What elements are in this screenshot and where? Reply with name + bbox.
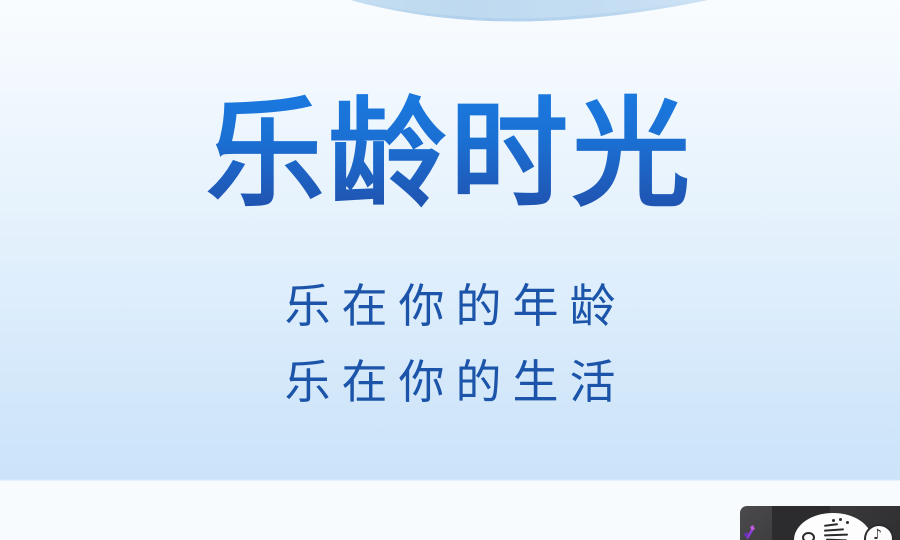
cartoon-dot-1 [832,519,835,522]
cartoon-dot-3 [846,521,849,524]
subtitle-line-1: 乐在你的年龄 [0,268,900,344]
music-note-icon: ♪ [873,528,886,540]
page-title: 乐龄时光 [0,78,900,230]
poster-canvas: 乐龄时光 乐在你的年龄 乐在你的生活 ♪ [0,0,900,540]
video-thumbnail-card[interactable]: ♪ [740,506,900,540]
subtitle-line-2: 乐在你的生活 [0,344,900,420]
cartoon-dot-2 [839,518,842,521]
sparkle-icon [744,525,756,539]
cartoon-eye-icon [802,532,815,540]
subtitle-block: 乐在你的年龄 乐在你的生活 [0,268,900,420]
